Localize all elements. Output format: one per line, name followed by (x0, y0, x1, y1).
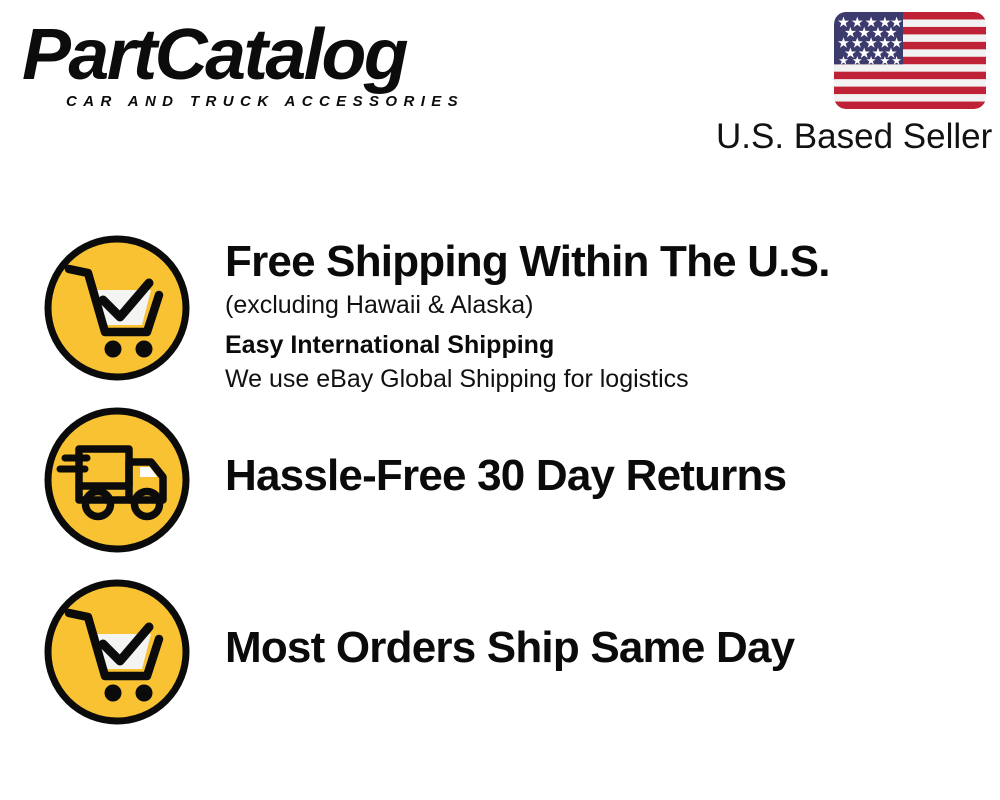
us-based-seller-badge: U.S. Based Seller (716, 12, 986, 157)
partcatalog-logo: PartCatalog CAR AND TRUCK ACCESSORIES (22, 18, 492, 118)
feature-text-block: Hassle-Free 30 Day Returns (225, 404, 1000, 502)
feature-subtitle: We use eBay Global Shipping for logistic… (225, 362, 1000, 396)
promo-banner: PartCatalog CAR AND TRUCK ACCESSORIES (0, 0, 1000, 800)
feature-row: Most Orders Ship Same Day (0, 576, 1000, 736)
feature-text-block: Free Shipping Within The U.S. (excluding… (225, 232, 1000, 396)
feature-list: Free Shipping Within The U.S. (excluding… (0, 232, 1000, 736)
feature-subtitle-strong: Easy International Shipping (225, 328, 1000, 362)
feature-row: Hassle-Free 30 Day Returns (0, 404, 1000, 576)
us-based-seller-label: U.S. Based Seller (716, 117, 986, 157)
feature-title: Most Orders Ship Same Day (225, 622, 1000, 674)
brand-wordmark: PartCatalog (22, 18, 501, 92)
feature-title: Free Shipping Within The U.S. (225, 236, 1000, 288)
feature-title: Hassle-Free 30 Day Returns (225, 450, 1000, 502)
cart-check-icon (41, 576, 193, 728)
feature-text-block: Most Orders Ship Same Day (225, 576, 1000, 674)
us-flag-icon (834, 12, 986, 109)
feature-note: (excluding Hawaii & Alaska) (225, 288, 1000, 322)
feature-row: Free Shipping Within The U.S. (excluding… (0, 232, 1000, 404)
delivery-truck-icon (41, 404, 193, 556)
cart-check-icon (41, 232, 193, 384)
brand-tagline: CAR AND TRUCK ACCESSORIES (66, 93, 492, 110)
